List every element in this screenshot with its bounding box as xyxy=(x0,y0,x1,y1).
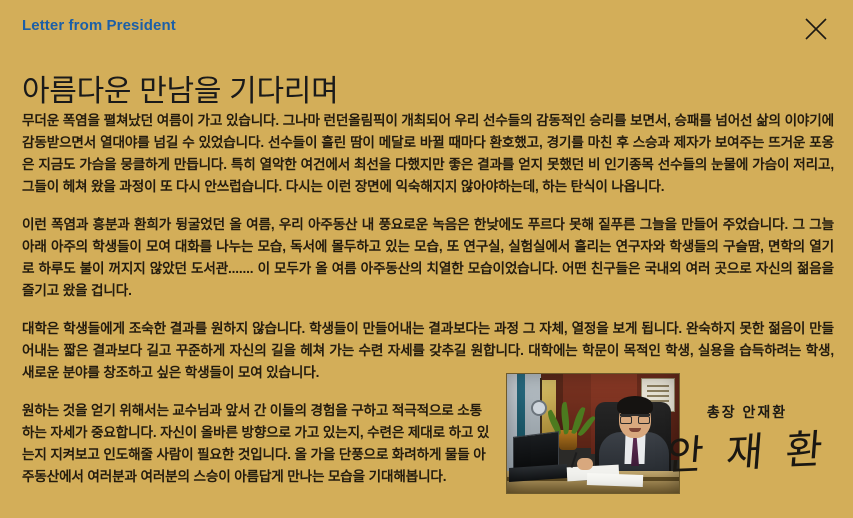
letter-paragraph-2: 이런 폭염과 흥분과 환희가 뒹굴었던 올 여름, 우리 아주동산 내 풍요로운… xyxy=(22,214,834,302)
panel-header: Letter from President xyxy=(0,0,853,44)
page-title: 아름다운 만남을 기다리며 xyxy=(22,73,338,111)
signature-title-and-name: 총장 안재환 xyxy=(663,405,831,419)
letter-paragraph-3: 대학은 학생들에게 조숙한 결과를 원하지 않습니다. 학생들이 만들어내는 결… xyxy=(22,318,834,384)
signature-block: 총장 안재환 안 재 환 xyxy=(663,405,831,473)
president-portrait-photo xyxy=(506,373,680,494)
photo-vignette xyxy=(507,374,679,493)
letter-from-president-panel: Letter from President 아름다운 만남을 기다리며 무더운 … xyxy=(0,0,853,518)
handwritten-signature: 안 재 환 xyxy=(661,429,832,477)
page-eyebrow-title: Letter from President xyxy=(22,18,176,33)
close-icon[interactable] xyxy=(799,12,833,46)
portrait-scene xyxy=(507,374,679,493)
letter-paragraph-1: 무더운 폭염을 펼쳐났던 여름이 가고 있습니다. 그나마 런던올림픽이 개최되… xyxy=(22,110,834,198)
letter-paragraph-4: 원하는 것을 얻기 위해서는 교수님과 앞서 간 이들의 경험을 구하고 적극적… xyxy=(22,400,490,488)
